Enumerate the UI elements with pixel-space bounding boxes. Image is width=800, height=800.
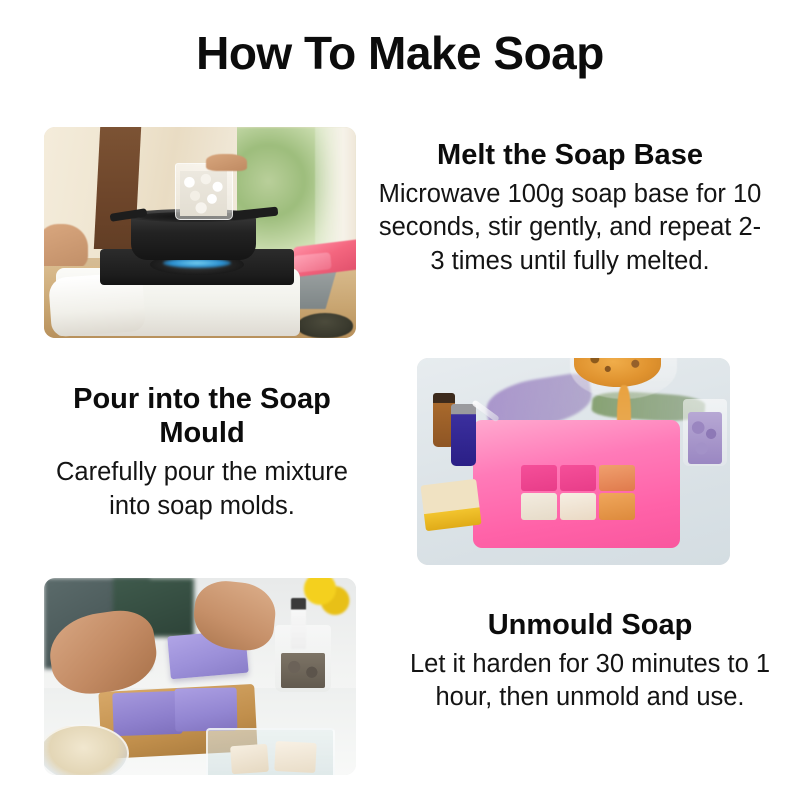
hand-holding-container <box>206 154 247 171</box>
step-melt-body: Microwave 100g soap base for 10 seconds,… <box>374 178 766 277</box>
step-melt-heading: Melt the Soap Base <box>374 138 766 172</box>
dried-lavender-buds <box>688 412 722 464</box>
pink-silicone-mould <box>473 420 680 548</box>
photo-unmoulding-purple-soap <box>44 578 356 775</box>
step-pour-text: Pour into the Soap Mould Carefully pour … <box>32 382 372 523</box>
purple-soap-bar-back-left <box>112 691 182 737</box>
dropper-bottle <box>291 598 307 649</box>
page-title: How To Make Soap <box>0 28 800 79</box>
how-to-make-soap-poster: How To Make Soap <box>0 0 800 800</box>
dried-botanicals <box>281 653 325 688</box>
step-unmould-heading: Unmould Soap <box>404 608 776 642</box>
soap-base-cubes <box>180 171 227 215</box>
mould-cavity-3 <box>599 465 635 491</box>
yellow-flowers <box>300 578 350 617</box>
mould-cavity-1 <box>521 465 557 491</box>
purple-soap-bar-back-right <box>175 688 238 732</box>
mould-cavity-5 <box>560 493 596 520</box>
photo-melting-soap-base-on-stove <box>44 127 356 338</box>
mould-cavity-6 <box>599 493 635 520</box>
step-pour-body: Carefully pour the mixture into soap mol… <box>32 456 372 522</box>
wrapped-soap-bar-2 <box>274 740 316 772</box>
blue-dropper-bottle <box>451 404 476 466</box>
step-unmould-body: Let it harden for 30 minutes to 1 hour, … <box>404 648 776 714</box>
wrapped-soap-bar-1 <box>230 744 269 774</box>
photo-pouring-into-pink-mould <box>417 358 730 565</box>
step-unmould-text: Unmould Soap Let it harden for 30 minute… <box>404 608 776 715</box>
step-pour-heading: Pour into the Soap Mould <box>32 382 372 450</box>
pink-soap-mold-secondary <box>293 252 332 273</box>
mould-cavity-4 <box>521 493 557 520</box>
herb-bowl <box>297 313 353 338</box>
mould-cavity-2 <box>560 465 596 491</box>
person-arm <box>44 224 88 270</box>
yellow-soap-bar <box>421 479 482 531</box>
step-melt-text: Melt the Soap Base Microwave 100g soap b… <box>374 138 766 278</box>
